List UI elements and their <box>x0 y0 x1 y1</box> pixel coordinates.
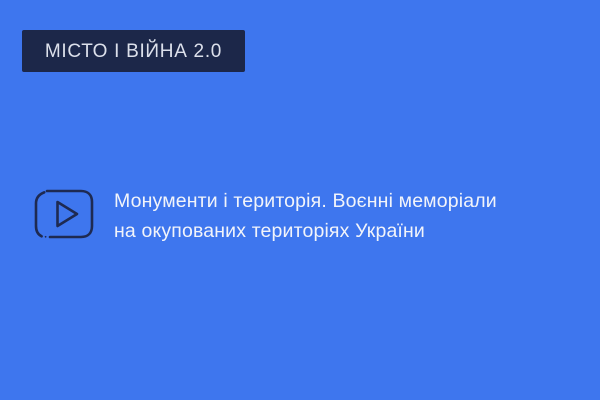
video-title-line-2: на окупованих територіях України <box>114 216 497 246</box>
series-badge-label: МІСТО І ВІЙНА 2.0 <box>45 42 222 61</box>
series-badge: МІСТО І ВІЙНА 2.0 <box>22 30 245 72</box>
slide-canvas: МІСТО І ВІЙНА 2.0 Монументи і територія.… <box>0 0 600 400</box>
youtube-play-icon[interactable] <box>33 186 95 240</box>
video-entry[interactable]: Монументи і територія. Воєнні меморіали … <box>33 186 497 246</box>
video-title: Монументи і територія. Воєнні меморіали … <box>114 186 497 246</box>
video-title-line-1: Монументи і територія. Воєнні меморіали <box>114 186 497 216</box>
